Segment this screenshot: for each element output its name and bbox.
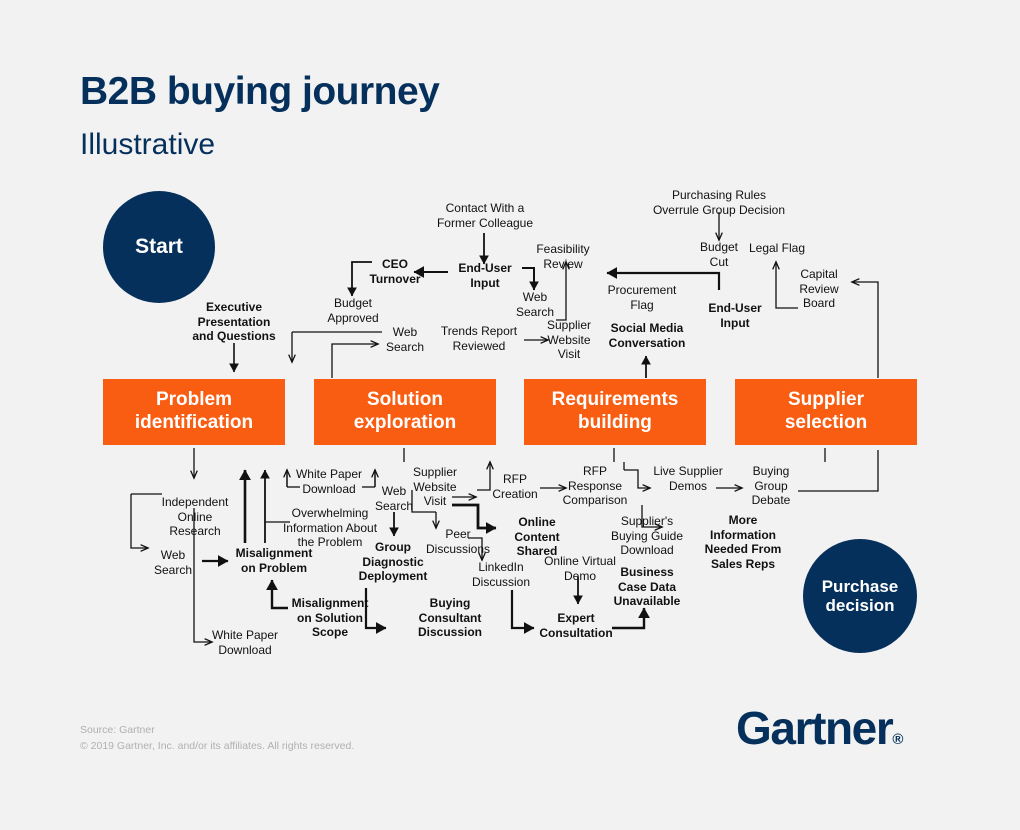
- node-trends-report-reviewed: Trends ReportReviewed: [432, 324, 526, 353]
- page-subtitle: Illustrative: [80, 130, 215, 160]
- stage-label: Solutionexploration: [354, 389, 456, 435]
- node-independent-online-research: IndependentOnlineResearch: [152, 495, 238, 539]
- node-rfp-creation: RFPCreation: [490, 472, 540, 501]
- node-white-paper-download-1: White PaperDownload: [292, 467, 366, 496]
- node-business-case-data-unavailable: BusinessCase DataUnavailable: [604, 565, 690, 609]
- purchase-decision-label: Purchasedecision: [822, 577, 899, 615]
- node-group-diagnostic-deployment: GroupDiagnosticDeployment: [352, 540, 434, 584]
- stage-box-requirements-building[interactable]: Requirementsbuilding: [524, 379, 706, 445]
- start-node: Start: [103, 191, 215, 303]
- node-procurement-flag: ProcurementFlag: [602, 283, 682, 312]
- node-web-search-3: WebSearch: [148, 548, 198, 577]
- footer-copyright: © 2019 Gartner, Inc. and/or its affiliat…: [80, 739, 354, 755]
- node-peer-discussions: PeerDiscussions: [424, 527, 492, 556]
- node-buying-consultant-discussion: BuyingConsultantDiscussion: [410, 596, 490, 640]
- node-budget-cut: BudgetCut: [692, 240, 746, 269]
- node-ceo-turnover: CEOTurnover: [360, 257, 430, 286]
- node-web-search-1: WebSearch: [378, 325, 432, 354]
- registered-mark-icon: ®: [892, 731, 903, 748]
- stage-box-problem-identification[interactable]: Problemidentification: [103, 379, 285, 445]
- purchase-decision-node: Purchasedecision: [803, 539, 917, 653]
- node-misalignment-on-solution-scope: Misalignmenton SolutionScope: [284, 596, 376, 640]
- node-capital-review-board: CapitalReviewBoard: [792, 267, 846, 311]
- diagram-canvas: B2B buying journey Illustrative: [0, 0, 1020, 830]
- gartner-logo-text: Gartner: [736, 702, 892, 754]
- node-rfp-response-comparison: RFPResponseComparison: [560, 464, 630, 508]
- node-linkedin-discussion: LinkedInDiscussion: [470, 560, 532, 589]
- node-end-user-input-2: End-UserInput: [698, 301, 772, 330]
- node-purchasing-rules: Purchasing RulesOverrule Group Decision: [640, 188, 798, 217]
- stage-label: Requirementsbuilding: [552, 389, 679, 435]
- node-budget-approved: BudgetApproved: [314, 296, 392, 325]
- node-online-content-shared: OnlineContentShared: [500, 515, 574, 559]
- node-suppliers-buying-guide-download: Supplier'sBuying GuideDownload: [600, 514, 694, 558]
- gartner-logo: Gartner®: [736, 705, 903, 751]
- node-end-user-input-1: End-UserInput: [448, 261, 522, 290]
- node-white-paper-download-2: White PaperDownload: [208, 628, 282, 657]
- node-feasibility-review: FeasibilityReview: [530, 242, 596, 271]
- node-supplier-website-visit-2: SupplierWebsiteVisit: [406, 465, 464, 509]
- node-misalignment-on-problem: Misalignmenton Problem: [228, 546, 320, 575]
- stage-label: Problemidentification: [135, 389, 253, 435]
- footer-source: Source: Gartner: [80, 723, 354, 739]
- page-title: B2B buying journey: [80, 72, 439, 111]
- node-live-supplier-demos: Live SupplierDemos: [650, 464, 726, 493]
- stage-box-solution-exploration[interactable]: Solutionexploration: [314, 379, 496, 445]
- node-web-search-2: WebSearch: [508, 290, 562, 319]
- node-more-information-needed: MoreInformationNeeded FromSales Reps: [700, 513, 786, 572]
- node-buying-group-debate: BuyingGroupDebate: [744, 464, 798, 508]
- node-contact-former-colleague: Contact With aFormer Colleague: [424, 201, 546, 230]
- footer-source-block: Source: Gartner © 2019 Gartner, Inc. and…: [80, 723, 354, 755]
- node-supplier-website-visit-1: SupplierWebsiteVisit: [540, 318, 598, 362]
- node-expert-consultation: ExpertConsultation: [534, 611, 618, 640]
- start-label: Start: [135, 235, 183, 259]
- stage-label: Supplierselection: [785, 389, 867, 435]
- node-executive-presentation: ExecutivePresentationand Questions: [174, 300, 294, 344]
- node-social-media-conversation: Social MediaConversation: [594, 321, 700, 350]
- stage-box-supplier-selection[interactable]: Supplierselection: [735, 379, 917, 445]
- node-legal-flag: Legal Flag: [742, 241, 812, 256]
